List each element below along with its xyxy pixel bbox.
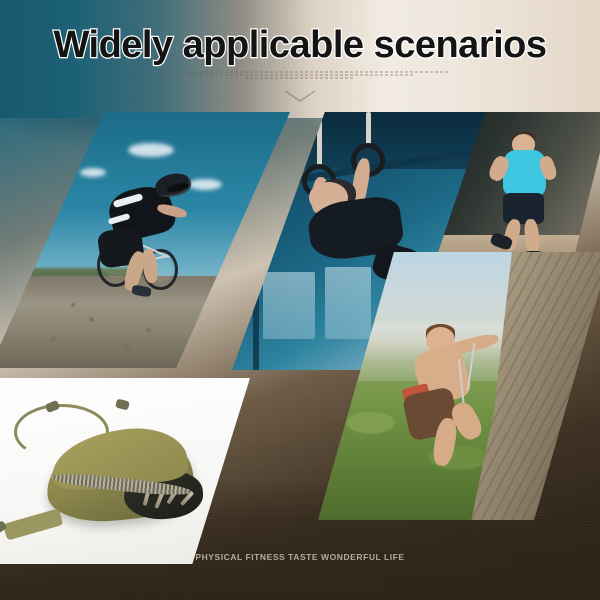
page-title: Widely applicable scenarios [0, 24, 600, 67]
chevron-down-icon [282, 88, 318, 104]
promo-banner: Widely applicable scenarios [0, 0, 600, 600]
decorative-rule [140, 70, 460, 80]
footer-tagline: PHYSICAL FITNESS TASTE WONDERFUL LIFE [0, 552, 600, 562]
